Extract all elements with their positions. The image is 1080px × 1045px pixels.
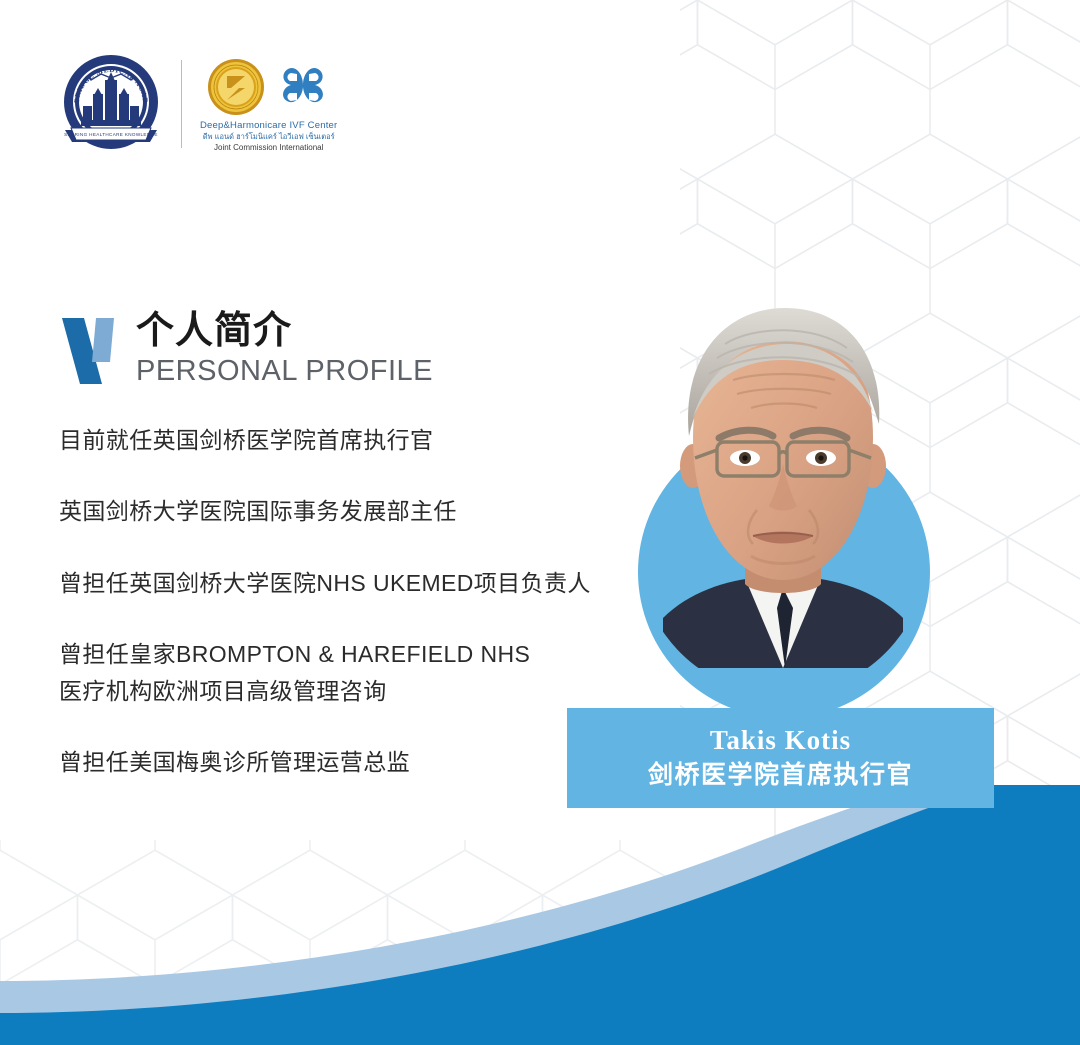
bio-line: 英国剑桥大学医院国际事务发展部主任 (59, 493, 659, 530)
avatar (633, 288, 933, 668)
page-title: 个人简介 (136, 312, 433, 352)
bio-line: 曾担任皇家BROMPTON & HAREFIELD NHS (59, 636, 659, 673)
list-item: 英国剑桥大学医院国际事务发展部主任 (59, 493, 659, 530)
portrait-container (633, 288, 933, 688)
partner-marks (207, 56, 331, 118)
section-title: 个人简介 PERSONAL PROFILE (58, 312, 433, 389)
header-logo-bar: CAMBRIDGE MEDICAL ACADEMY SHARING HEALTH… (57, 48, 337, 160)
bio-line: 目前就任英国剑桥医学院首席执行官 (59, 422, 659, 459)
partner-text: Deep&Harmonicare IVF Center ดีพ แอนด์ ฮา… (200, 120, 337, 154)
double-chevron-accent-icon (58, 314, 130, 388)
partner-name-en: Deep&Harmonicare IVF Center (200, 120, 337, 132)
partner-accreditation: Joint Commission International (200, 142, 337, 154)
logo-divider (181, 60, 182, 148)
gold-medal-icon (207, 58, 265, 116)
partner-logo-block: Deep&Harmonicare IVF Center ดีพ แอนด์ ฮา… (200, 54, 337, 154)
bio-line: 医疗机构欧洲项目高级管理咨询 (59, 673, 659, 710)
list-item: 曾担任英国剑桥大学医院NHS UKEMED项目负责人 (59, 565, 659, 602)
person-title: 剑桥医学院首席执行官 (648, 759, 913, 792)
person-name: Takis Kotis (710, 725, 851, 756)
deep-harmonicare-clover-icon (275, 59, 331, 115)
list-item: 曾担任皇家BROMPTON & HAREFIELD NHS 医疗机构欧洲项目高级… (59, 636, 659, 711)
profile-slide: CAMBRIDGE MEDICAL ACADEMY SHARING HEALTH… (0, 0, 1080, 1045)
page-subtitle: PERSONAL PROFILE (136, 354, 433, 389)
svg-text:SHARING HEALTHCARE KNOWLEDGE: SHARING HEALTHCARE KNOWLEDGE (64, 132, 158, 137)
cambridge-medical-academy-crest-icon: CAMBRIDGE MEDICAL ACADEMY SHARING HEALTH… (57, 50, 165, 158)
name-card: Takis Kotis 剑桥医学院首席执行官 (567, 708, 994, 808)
partner-name-th: ดีพ แอนด์ ฮาร์โมนิแคร์ ไอวีเอฟ เซ็นเตอร์ (200, 132, 337, 142)
bio-line: 曾担任英国剑桥大学医院NHS UKEMED项目负责人 (59, 565, 659, 602)
list-item: 目前就任英国剑桥医学院首席执行官 (59, 422, 659, 459)
section-title-text: 个人简介 PERSONAL PROFILE (136, 312, 433, 389)
bottom-wave-decoration (0, 785, 1080, 1045)
